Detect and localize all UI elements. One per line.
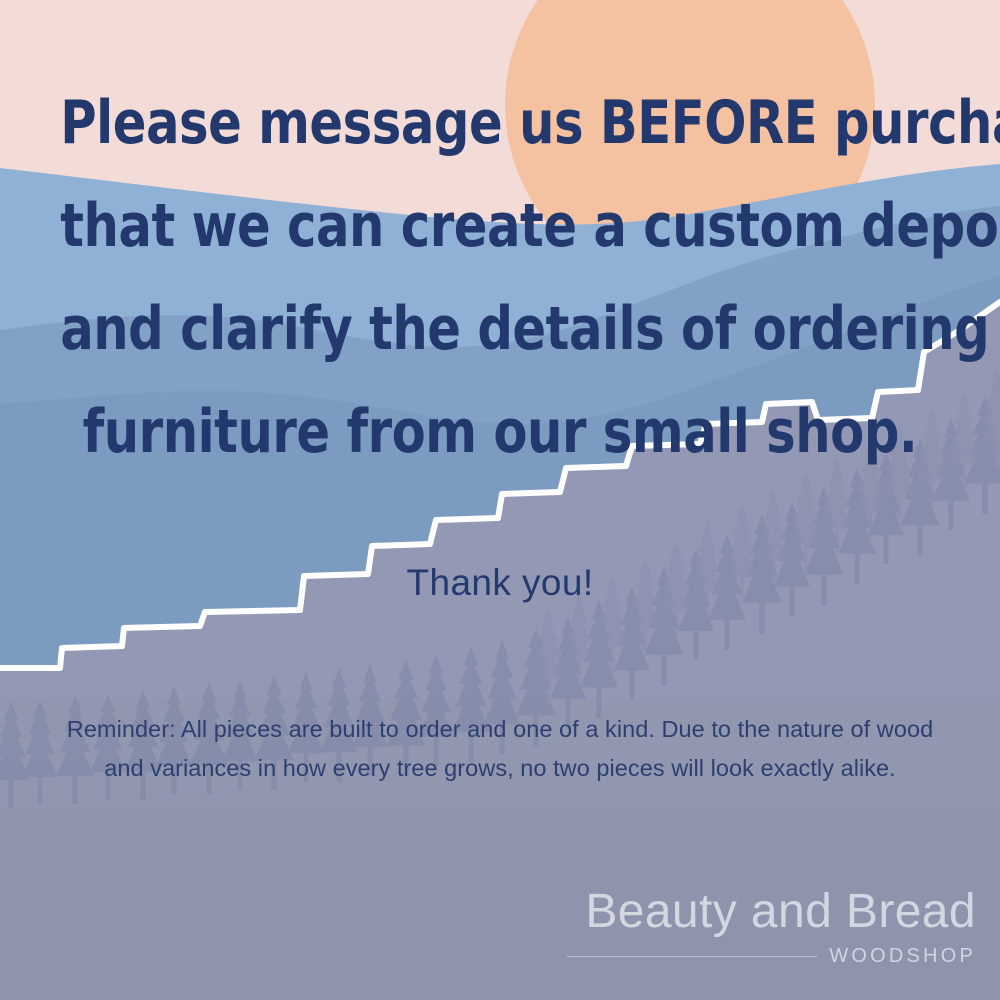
reminder-note: Reminder: All pieces are built to order … [0,710,1000,788]
logo-divider-rule [567,956,817,957]
headline-message: Please message us BEFORE purchasing so t… [40,72,960,484]
headline-line-2: that we can create a custom deposit invo… [60,175,940,278]
headline-line-3: and clarify the details of ordering hand… [60,278,940,381]
reminder-line-1: Reminder: All pieces are built to order … [26,710,974,749]
headline-line-1: Please message us BEFORE purchasing so [60,72,940,175]
brand-subtitle: WOODSHOP [829,945,976,968]
promo-graphic: Please message us BEFORE purchasing so t… [0,0,1000,1000]
thank-you-text: Thank you! [0,562,1000,604]
brand-subtitle-row: WOODSHOP [556,945,976,968]
reminder-line-2: and variances in how every tree grows, n… [26,749,974,788]
headline-line-4: furniture from our small shop. [60,381,940,484]
brand-name: Beauty and Bread [556,885,976,939]
brand-logo: Beauty and Bread WOODSHOP [556,885,976,968]
